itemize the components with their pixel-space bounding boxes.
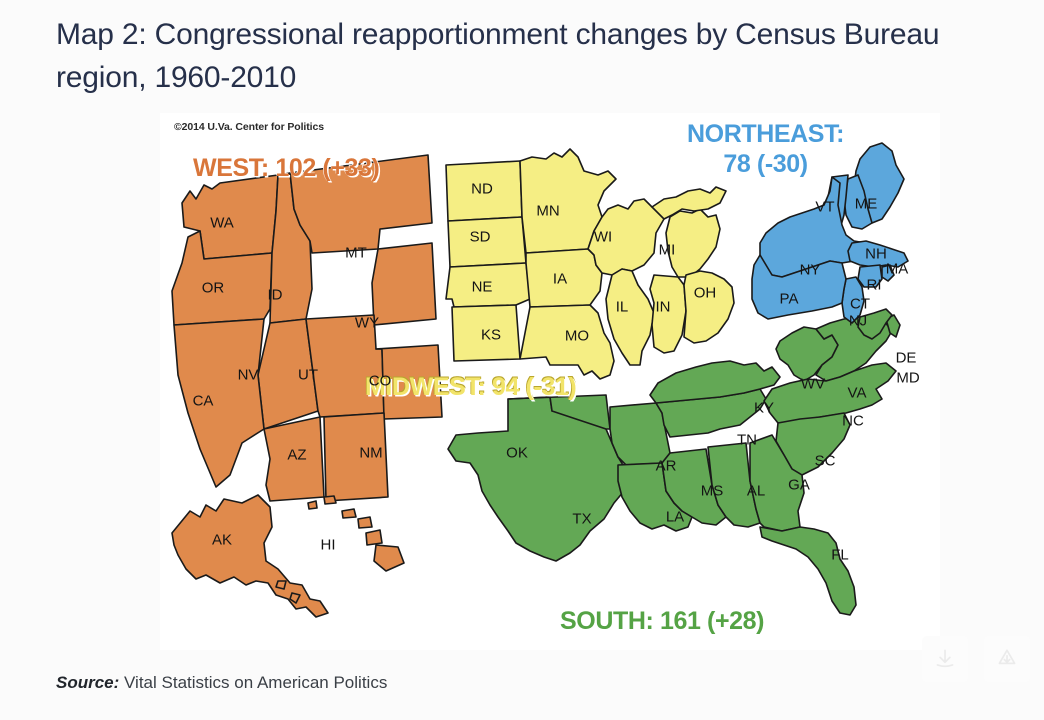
download-button[interactable] <box>922 636 968 682</box>
download-icon <box>932 646 958 672</box>
region-label-south: SOUTH: 161 (+28) <box>560 607 764 636</box>
region-label-northeast-line1: NORTHEAST: <box>687 120 844 150</box>
region-label-northeast: NORTHEAST: 78 (-30) <box>687 120 844 179</box>
share-icon <box>994 646 1020 672</box>
region-label-west: WEST: 102 (+33) <box>193 154 379 183</box>
overlay-button-group <box>922 636 1030 682</box>
map-figure: ©2014 U.Va. Center for Politics WEST: 10… <box>160 113 940 650</box>
source-line: Source: Vital Statistics on American Pol… <box>56 673 387 693</box>
source-label: Source: <box>56 673 119 692</box>
copyright-notice: ©2014 U.Va. Center for Politics <box>174 121 324 133</box>
region-label-midwest: MIDWEST: 94 (-31) <box>365 373 576 402</box>
page-title: Map 2: Congressional reapportionment cha… <box>56 14 986 99</box>
region-label-northeast-line2: 78 (-30) <box>687 150 844 180</box>
share-button[interactable] <box>984 636 1030 682</box>
source-text: Vital Statistics on American Politics <box>119 673 387 692</box>
region-midwest[interactable] <box>446 149 734 379</box>
